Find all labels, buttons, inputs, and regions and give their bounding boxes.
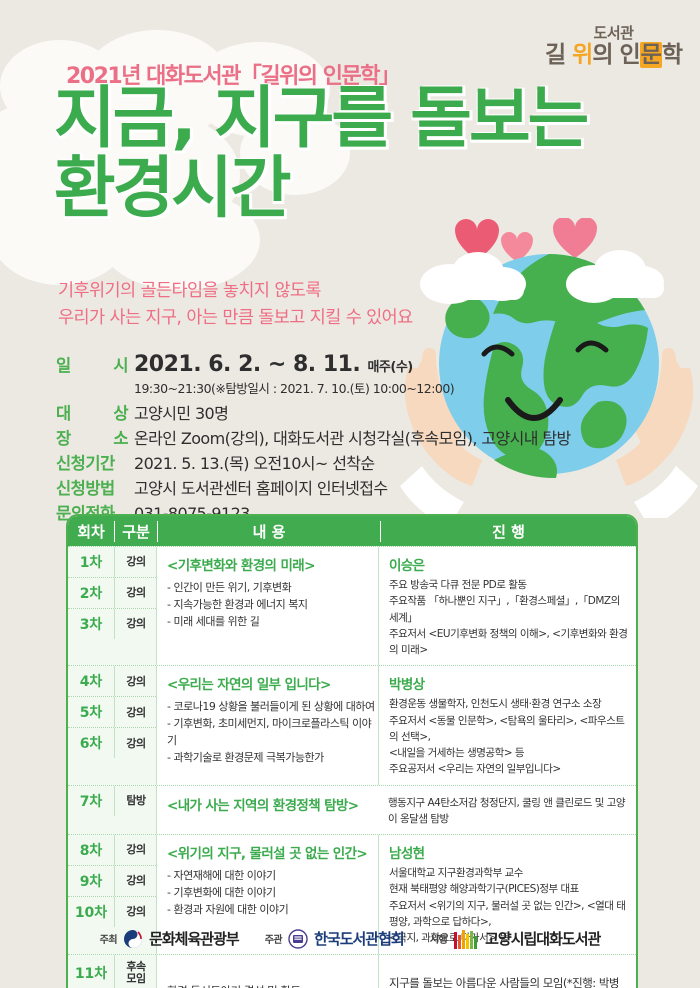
content-title: <기후변화와 환경의 미래> <box>167 554 378 574</box>
poster-subtitle: 기후위기의 골든타임을 놓치지 않도록 우리가 사는 지구, 아는 만큼 돌보고… <box>58 278 413 332</box>
info-label-apply-period: 신청기간 <box>56 450 134 474</box>
presenter-detail: 현재 북태평양 해양과학기구(PICES)정부 대표 <box>389 881 628 897</box>
info-value-datetime: 2021. 6. 2. ~ 8. 11. 매주(수) <box>134 352 413 377</box>
session-no: 2차 <box>68 583 114 603</box>
table-header-session: 회차 <box>68 521 114 542</box>
schedule-table: 회차 구분 내 용 진 행 1차 강의 2차 강의 3차 강의 <box>66 514 638 988</box>
footer-role-organizer: 주관 <box>265 931 282 946</box>
session-no: 8차 <box>68 840 114 860</box>
presenter-cell: 지구를 돌보는 아름다운 사람들의 모임(*진행: 박병상) <box>378 955 636 988</box>
footer-item-host: 주최 문화체육관광부 <box>100 928 239 949</box>
content-title: <위기의 지구, 물러설 곳 없는 인간> <box>167 842 378 862</box>
presenter-detail: 주요저서 <위기의 지구, 물러설 곳 없는 인간>, <열대 태평양, 과학으… <box>389 898 628 931</box>
info-sub-datetime: 19:30~21:30(※탐방일시 : 2021. 7. 10.(토) 10:0… <box>134 378 571 397</box>
poster: 도서관 길 위의 인문학 2021년 대화도서관「길위의 인문학」 지금, 지구… <box>0 0 700 988</box>
program-logo: 도서관 길 위의 인문학 <box>545 26 682 67</box>
excursion-detail: 행동지구 A4탄소저감 청정단지, 쿨링 앤 클린로드 및 고양이 옹달샘 탐방 <box>388 795 628 828</box>
session-cell: 4차 강의 <box>68 666 156 697</box>
session-cell: 5차 강의 <box>68 697 156 728</box>
page-title: 지금, 지구를 돌보는 환경시간 <box>54 85 586 222</box>
content-bullet: - 인간이 만든 위기, 기후변화 <box>167 579 378 596</box>
presenter-detail: 주요 방송국 다큐 전문 PD로 활동 <box>389 577 628 593</box>
session-cell: 10차 강의 <box>68 897 156 927</box>
session-no: 7차 <box>68 791 114 811</box>
session-number-column: 11차 후속 모임 12차 후속 모임 <box>68 955 156 988</box>
info-row-place: 장소 온라인 Zoom(강의), 대화도서관 시청각실(후속모임), 고양시내 … <box>56 425 571 449</box>
content-bullet: - 지속가능한 환경과 에너지 복지 <box>167 596 378 613</box>
footer-role-host: 주최 <box>100 931 117 946</box>
info-value-apply-period: 2021. 5. 13.(목) 오전10시~ 선착순 <box>134 450 375 474</box>
table-header-content: 내 용 <box>157 521 380 542</box>
program-logo-line1: 도서관 <box>545 26 682 41</box>
info-row-audience: 대상 고양시민 30명 <box>56 400 571 424</box>
footer-item-organizer: 주관 한국도서관협회 <box>265 928 404 949</box>
session-cell: 2차 강의 <box>68 578 156 609</box>
session-cell: 8차 강의 <box>68 835 156 866</box>
content-title: <내가 사는 지역의 환경정책 탐방> <box>167 794 378 814</box>
info-label-place: 장소 <box>56 425 134 449</box>
presenter-name: 남성현 <box>389 842 628 862</box>
presenter-cell: 행동지구 A4탄소저감 청정단지, 쿨링 앤 클린로드 및 고양이 옹달샘 탐방 <box>378 786 636 835</box>
session-number-column: 7차 탐방 <box>68 786 156 835</box>
content-title: <우리는 자연의 일부 입니다> <box>167 673 378 693</box>
session-no: 4차 <box>68 671 114 691</box>
event-info-block: 일시 2021. 6. 2. ~ 8. 11. 매주(수) 19:30~21:3… <box>56 352 571 525</box>
session-no: 6차 <box>68 733 114 753</box>
content-bullet: - 환경과 자원에 대한 이야기 <box>167 901 378 918</box>
table-header-row: 회차 구분 내 용 진 행 <box>68 516 636 546</box>
table-row: 11차 후속 모임 12차 후속 모임 환경 독서동아리 결성 및 활동 <box>68 954 636 988</box>
presenter-plain: 지구를 돌보는 아름다운 사람들의 모임(*진행: 박병상) <box>389 975 628 988</box>
info-value-weekly: 매주(수) <box>367 360 412 375</box>
session-kind: 강의 <box>114 697 157 727</box>
session-kind: 후속 모임 <box>114 955 157 988</box>
info-label-apply-method: 신청방법 <box>56 475 134 499</box>
footer-logos: 주최 문화체육관광부 주관 한국도서관협회 <box>0 928 700 949</box>
presenter-name: 이승은 <box>389 554 628 574</box>
session-cell: 11차 후속 모임 <box>68 955 156 988</box>
table-row: 4차 강의 5차 강의 6차 강의 <우리는 자연의 일부 입니다> - 코로나… <box>68 665 636 784</box>
content-bullet: - 미래 세대를 위한 길 <box>167 613 378 630</box>
session-number-column: 4차 강의 5차 강의 6차 강의 <box>68 666 156 784</box>
session-no: 3차 <box>68 614 114 634</box>
session-no: 9차 <box>68 871 114 891</box>
footer-name-host: 문화체육관광부 <box>149 928 239 949</box>
table-header-kind: 구분 <box>114 521 157 542</box>
session-no: 11차 <box>68 963 114 983</box>
session-kind: 강의 <box>114 666 157 696</box>
table-header-presenter: 진 행 <box>380 521 636 542</box>
presenter-cell: 박병상 환경운동 생물학자, 인천도시 생태·환경 연구소 소장 주요저서 <동… <box>378 666 636 784</box>
session-kind: 강의 <box>114 897 157 927</box>
title-line-2: 환경시간 <box>54 155 586 221</box>
info-row-apply-period: 신청기간 2021. 5. 13.(목) 오전10시~ 선착순 <box>56 450 571 474</box>
session-no: 5차 <box>68 702 114 722</box>
session-number-column: 1차 강의 2차 강의 3차 강의 <box>68 547 156 665</box>
content-cell: <내가 사는 지역의 환경정책 탐방> <box>156 786 378 835</box>
table-row: 7차 탐방 <내가 사는 지역의 환경정책 탐방> 행동지구 A4탄소저감 청정… <box>68 785 636 835</box>
table-row: 1차 강의 2차 강의 3차 강의 <기후변화와 환경의 미래> - 인간이 만… <box>68 546 636 665</box>
content-bullet: - 자연재해에 대한 이야기 <box>167 867 378 884</box>
info-label-datetime: 일시 <box>56 352 134 376</box>
session-kind: 강의 <box>114 609 157 639</box>
footer-role-operator: 시행 <box>430 931 447 946</box>
content-cell: <기후변화와 환경의 미래> - 인간이 만든 위기, 기후변화 - 지속가능한… <box>156 547 378 665</box>
content-bullet: - 코로나19 상황을 불러들이게 된 상황에 대하여 <box>167 698 378 715</box>
presenter-detail: 주요작품 「하나뿐인 지구」,「환경스페셜」,「DMZ의 세계」 <box>389 593 628 626</box>
footer-item-operator: 시행 고양시립대화도서관 <box>430 928 601 949</box>
subtitle-line-1: 기후위기의 골든타임을 놓치지 않도록 <box>58 278 413 305</box>
session-kind: 강의 <box>114 835 157 865</box>
info-row-datetime: 일시 2021. 6. 2. ~ 8. 11. 매주(수) <box>56 352 571 377</box>
session-no: 10차 <box>68 902 114 922</box>
session-kind: 강의 <box>114 866 157 896</box>
presenter-detail: 주요공저서 <우리는 자연의 일부입니다> <box>389 761 628 777</box>
presenter-detail: 주요저서 <동물 인문학>, <탐욕의 울타리>, <파우스트의 선택>, <box>389 713 628 746</box>
content-bullet: - 과학기술로 환경문제 극복가능한가 <box>167 749 378 766</box>
footer-name-operator: 고양시립대화도서관 <box>485 928 600 949</box>
session-kind: 강의 <box>114 728 157 758</box>
session-cell: 3차 강의 <box>68 609 156 639</box>
footer-name-organizer: 한국도서관협회 <box>314 928 404 949</box>
info-value-audience: 고양시민 30명 <box>134 400 228 424</box>
info-value-apply-method: 고양시 도서관센터 홈페이지 인터넷접수 <box>134 475 388 499</box>
info-row-apply-method: 신청방법 고양시 도서관센터 홈페이지 인터넷접수 <box>56 475 571 499</box>
content-cell: <우리는 자연의 일부 입니다> - 코로나19 상황을 불러들이게 된 상황에… <box>156 666 378 784</box>
info-label-audience: 대상 <box>56 400 134 424</box>
kla-emblem-icon <box>288 929 308 949</box>
presenter-detail: 서울대학교 지구환경과학부 교수 <box>389 865 628 881</box>
session-cell: 6차 강의 <box>68 728 156 758</box>
presenter-detail: <내일을 거세하는 생명공학> 등 <box>389 745 628 761</box>
title-line-1: 지금, 지구를 돌보는 <box>54 85 586 151</box>
subtitle-line-2: 우리가 사는 지구, 아는 만큼 돌보고 지킬 수 있어요 <box>58 305 413 332</box>
presenter-cell: 이승은 주요 방송국 다큐 전문 PD로 활동 주요작품 「하나뿐인 지구」,「… <box>378 547 636 665</box>
session-cell: 9차 강의 <box>68 866 156 897</box>
program-logo-line2: 길 위의 인문학 <box>545 44 682 67</box>
content-plain: 환경 독서동아리 결성 및 활동 <box>167 983 301 988</box>
session-no: 1차 <box>68 552 114 572</box>
content-cell: 환경 독서동아리 결성 및 활동 <box>156 955 378 988</box>
presenter-name: 박병상 <box>389 673 628 693</box>
korea-gov-emblem-icon <box>123 929 143 949</box>
session-kind: 강의 <box>114 547 157 577</box>
info-value-place: 온라인 Zoom(강의), 대화도서관 시청각실(후속모임), 고양시내 탐방 <box>134 425 571 449</box>
content-bullet: - 기후변화, 초미세먼지, 마이크로플라스틱 이야기 <box>167 715 378 749</box>
session-cell: 1차 강의 <box>68 547 156 578</box>
goyang-library-bars-icon <box>453 929 479 949</box>
presenter-detail: 주요저서 <EU기후변화 정책의 이해>, <기후변화와 환경의 미래> <box>389 626 628 659</box>
session-kind: 탐방 <box>114 786 157 816</box>
presenter-detail: 환경운동 생물학자, 인천도시 생태·환경 연구소 소장 <box>389 696 628 712</box>
content-bullet: - 기후변화에 대한 이야기 <box>167 884 378 901</box>
session-kind: 강의 <box>114 578 157 608</box>
session-cell: 7차 탐방 <box>68 786 156 816</box>
